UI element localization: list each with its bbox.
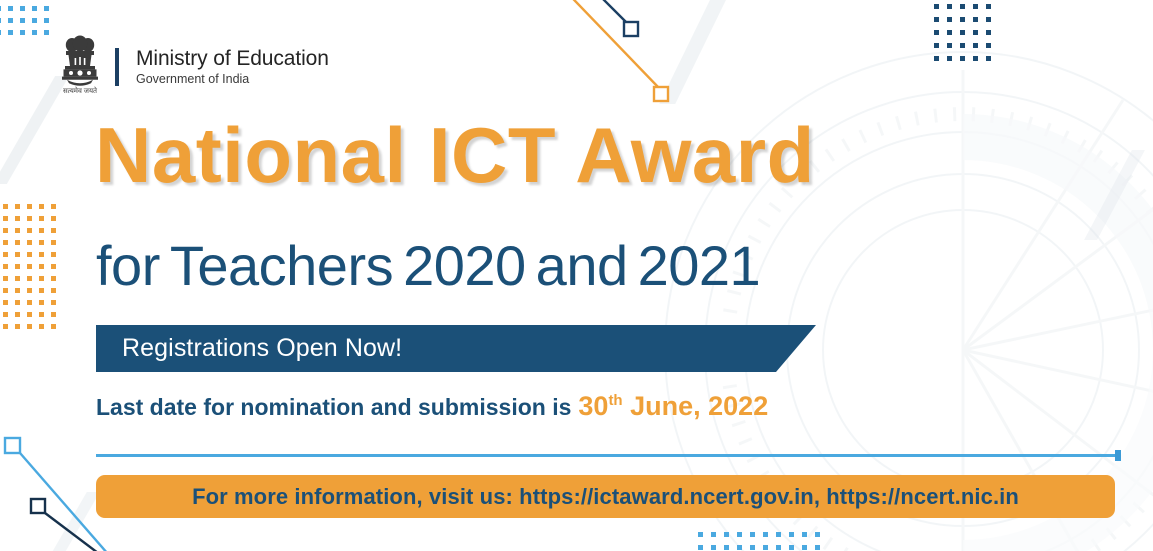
government-name: Government of India — [136, 72, 329, 87]
ministry-logo-block: सत्यमेव जयते Ministry of Education Gover… — [58, 31, 329, 103]
deadline-line: Last date for nomination and submission … — [96, 393, 768, 420]
emblem-motto-text: सत्यमेव जयते — [63, 86, 98, 95]
diagonal-line-navy-top — [566, 0, 676, 46]
dot-grid-bottom-center — [698, 532, 824, 551]
page-subtitle: forTeachers2020and2021 — [96, 238, 760, 294]
divider-end-cap — [1115, 450, 1121, 461]
page-title: National ICT Award — [95, 116, 815, 194]
subtitle-for: for — [96, 234, 160, 297]
streak-top-right — [1084, 150, 1145, 240]
streak-top-mid — [659, 0, 733, 104]
subtitle-audience: Teachers — [170, 234, 393, 297]
more-information-text: For more information, visit us: https://… — [192, 484, 1019, 510]
state-emblem-of-india-icon: सत्यमेव जयते — [58, 31, 102, 103]
dot-grid-top-right — [934, 4, 996, 66]
deadline-prefix: Last date for nomination and submission … — [96, 396, 571, 419]
deadline-ordinal: th — [608, 392, 622, 409]
subtitle-year-2: 2021 — [638, 234, 761, 297]
registration-status-label: Registrations Open Now! — [122, 325, 402, 372]
more-information-cta[interactable]: For more information, visit us: https://… — [96, 475, 1115, 518]
deadline-date: 30th June, 2022 — [578, 393, 768, 420]
horizontal-divider — [96, 454, 1119, 457]
logo-divider — [115, 48, 119, 86]
subtitle-and: and — [536, 234, 628, 297]
dot-grid-mid-left — [3, 204, 63, 342]
streak-bottom-left — [37, 492, 100, 551]
ministry-text-block: Ministry of Education Government of Indi… — [136, 47, 329, 88]
ict-award-banner: सत्यमेव जयते Ministry of Education Gover… — [0, 0, 1153, 551]
deadline-month-year: June, 2022 — [630, 391, 768, 421]
subtitle-year-1: 2020 — [403, 234, 526, 297]
ministry-name: Ministry of Education — [136, 47, 329, 71]
diagonal-line-orange-top — [520, 0, 700, 110]
registration-status-banner: Registrations Open Now! — [96, 325, 816, 372]
ashoka-lion-capital-icon: सत्यमेव जयते — [58, 31, 102, 103]
deadline-day: 30 — [578, 391, 608, 421]
dot-grid-top-left — [0, 0, 58, 52]
